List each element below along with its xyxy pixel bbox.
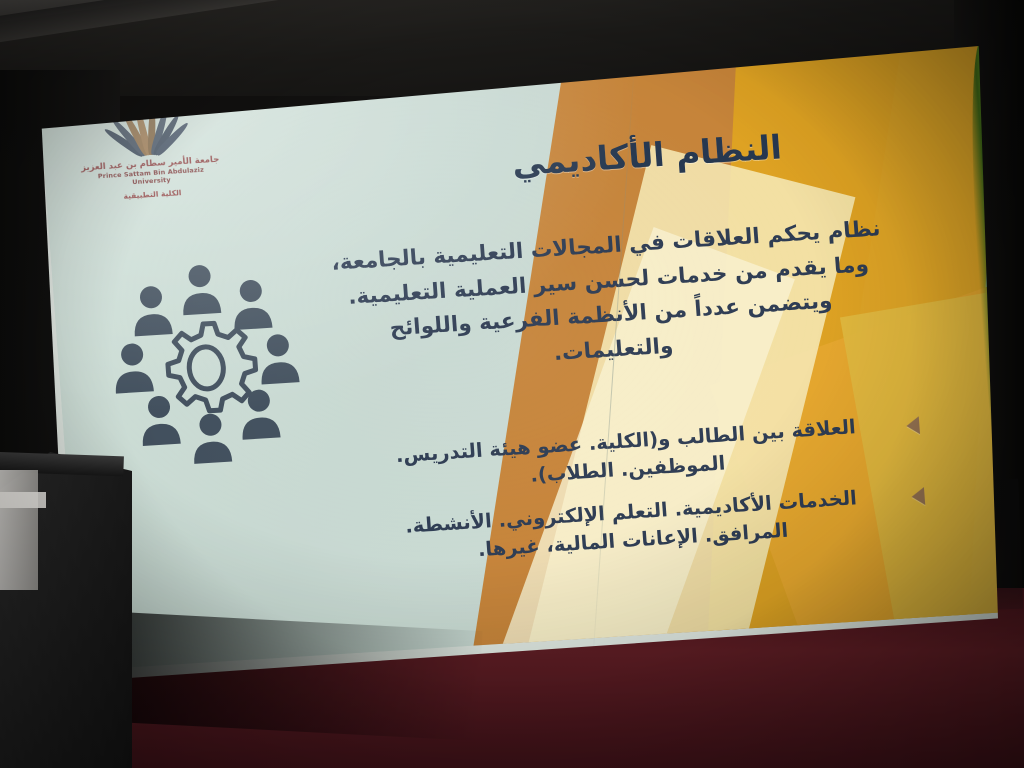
projector-screen: جامعة الأمير سطام بن عبد العزيز Prince S…	[36, 46, 998, 682]
people-around-gear-icon	[104, 256, 309, 477]
triangle-bullet-icon	[911, 487, 925, 506]
ceiling-beam-secondary	[0, 0, 654, 48]
podium-side-panel	[0, 470, 38, 590]
triangle-bullet-icon	[906, 416, 920, 435]
podium-side-highlight	[0, 492, 46, 508]
